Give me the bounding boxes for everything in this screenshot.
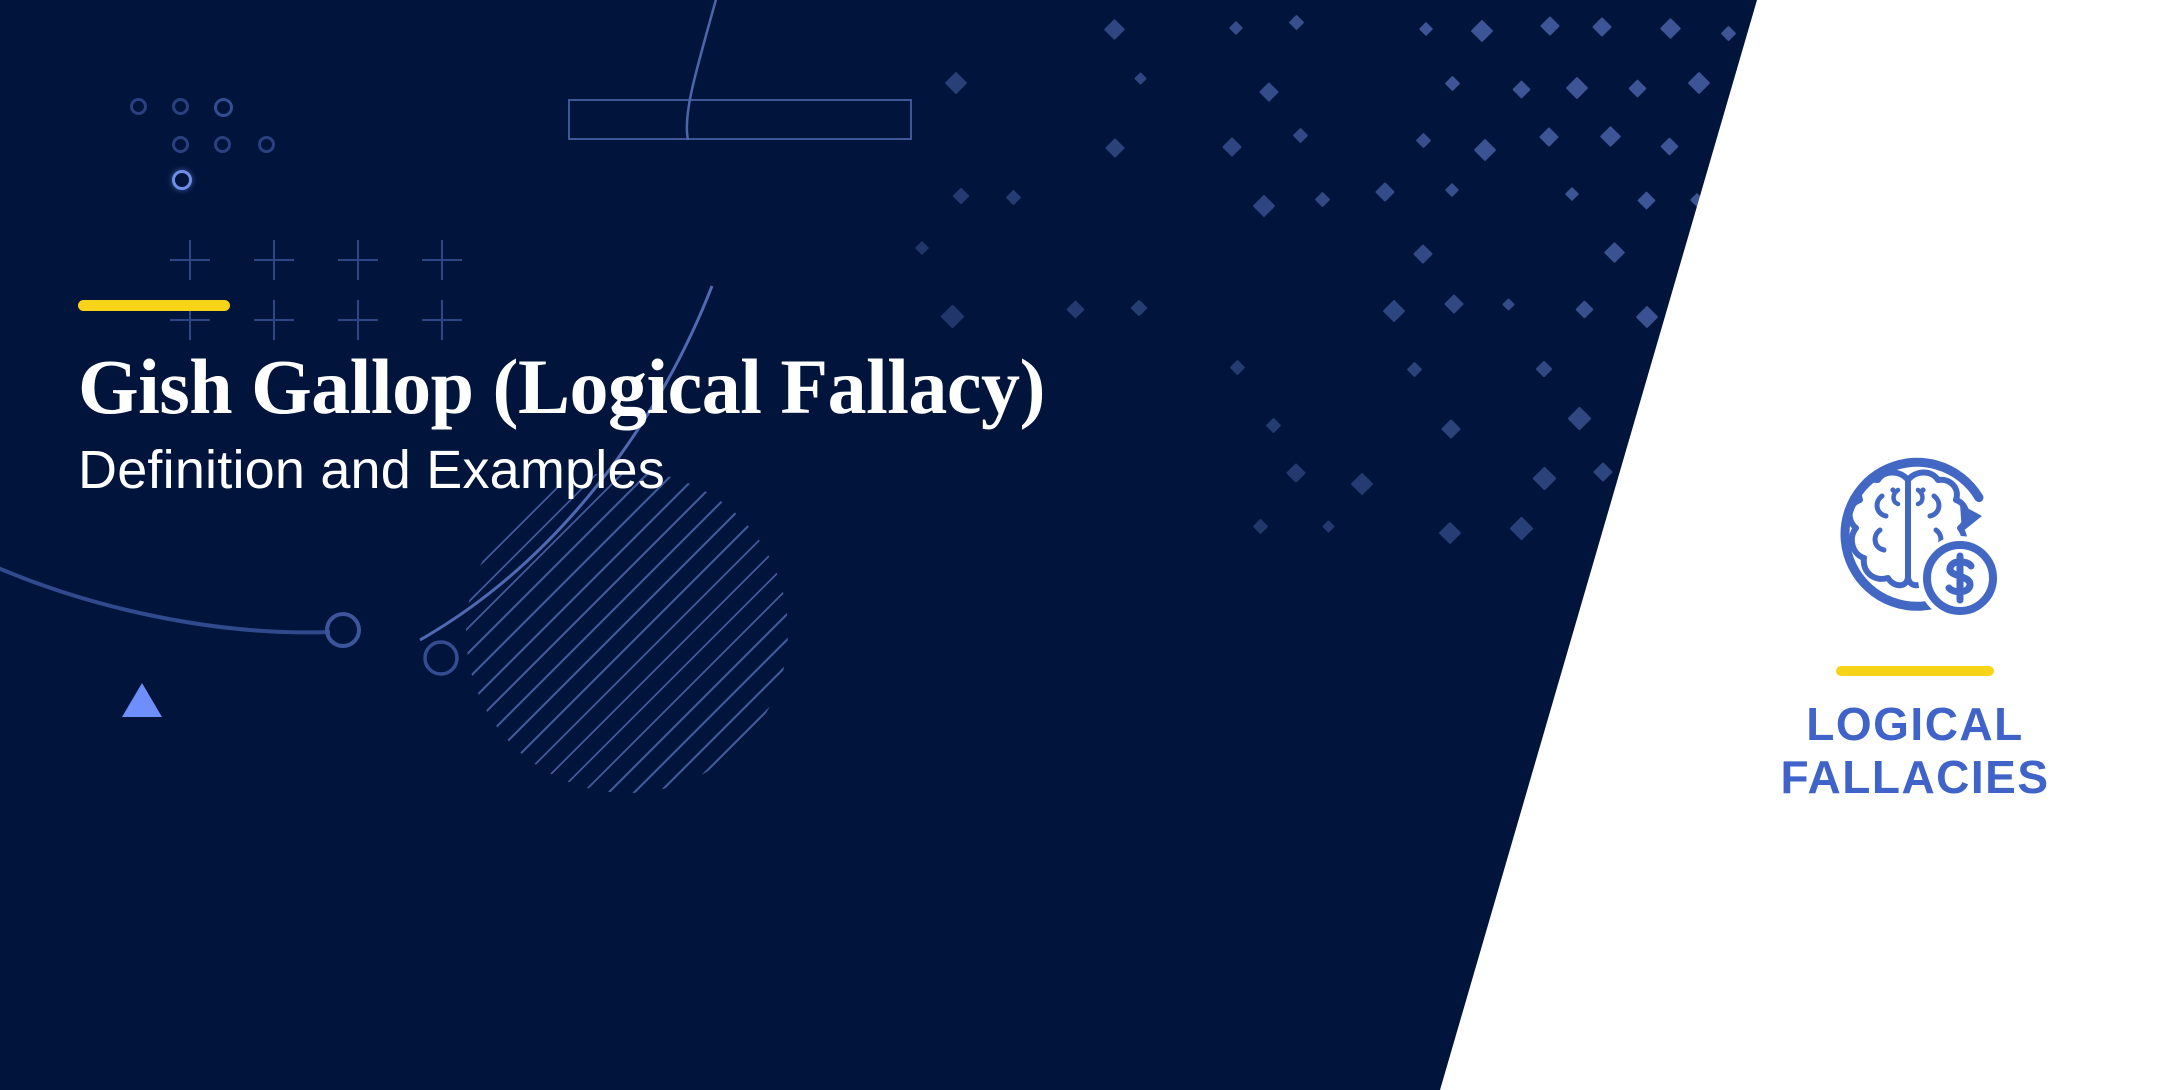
banner-root: Gish Gallop (Logical Fallacy) Definition… (0, 0, 2180, 1090)
plus-cross-icon (338, 240, 378, 280)
plus-cross-icon (170, 240, 210, 280)
logo-yellow-divider (1836, 666, 1994, 676)
brain-money-refresh-icon (1810, 430, 2020, 640)
ring-dot (172, 136, 189, 153)
logo-wordmark: LOGICAL FALLACIES (1745, 698, 2085, 804)
ring-dot (172, 98, 189, 115)
triangle-decoration (122, 683, 162, 717)
logo-line-1: LOGICAL (1745, 698, 2085, 751)
ring-dot (258, 136, 275, 153)
yellow-accent-bar (78, 300, 230, 311)
page-title: Gish Gallop (Logical Fallacy) (78, 346, 1045, 427)
ring-dot (214, 136, 231, 153)
logo-block: LOGICAL FALLACIES (1745, 430, 2085, 804)
ring-dot (172, 170, 192, 190)
title-block: Gish Gallop (Logical Fallacy) Definition… (78, 300, 1045, 501)
outlined-rectangle-bar (568, 99, 912, 140)
ring-dot (214, 98, 233, 117)
hatched-circle-decoration (466, 471, 788, 793)
ring-dot (130, 98, 147, 115)
page-subtitle: Definition and Examples (78, 441, 1045, 500)
plus-cross-icon (422, 240, 462, 280)
logo-line-2: FALLACIES (1745, 751, 2085, 804)
plus-cross-icon (254, 240, 294, 280)
